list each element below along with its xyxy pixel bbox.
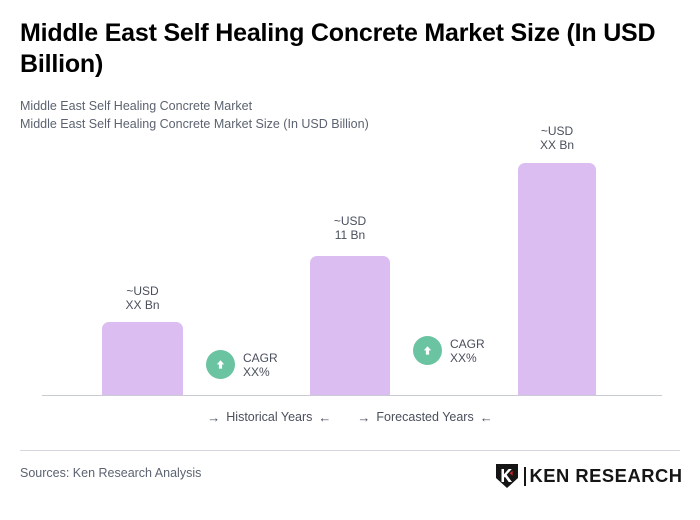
bar-3[interactable] [518,163,596,395]
chart-plot-area: ~USD XX Bn CAGR XX% ~USD 11 Bn [0,0,700,400]
cagr-annotation-1-text: CAGR XX% [243,351,278,379]
legend-item-historical-years: → Historical Years ← [207,410,331,424]
chart-card: Middle East Self Healing Concrete Market… [0,0,700,520]
cagr-annotation-2-value: XX% [450,351,485,365]
arrow-up-icon [413,336,442,365]
cagr-annotation-1: CAGR XX% [206,350,278,379]
brand-logo: KEN RESEARCH [495,463,681,489]
bar-value-label-2: ~USD 11 Bn [310,214,390,242]
footer-divider [20,450,680,451]
legend-item-historical-years-label: Historical Years [226,410,312,424]
cagr-annotation-2-label: CAGR [450,337,485,351]
bar-value-label-3-value: XX Bn [518,138,596,152]
bar-1[interactable] [102,322,183,395]
x-axis-baseline [42,395,662,396]
bar-value-label-3-currency: ~USD [518,124,596,138]
legend-item-forecasted-years-label: Forecasted Years [376,410,473,424]
bar-value-label-1-value: XX Bn [102,298,183,312]
bar-value-label-1: ~USD XX Bn [102,284,183,312]
sources-text: Sources: Ken Research Analysis [20,466,201,480]
arrow-right-icon: → [207,411,220,424]
arrow-left-icon: ← [318,411,331,424]
chart-legend: → Historical Years ← → Forecasted Years … [0,410,700,424]
cagr-annotation-1-label: CAGR [243,351,278,365]
ken-research-shield-icon [495,463,519,489]
legend-item-forecasted-years: → Forecasted Years ← [357,410,492,424]
bar-2[interactable] [310,256,390,395]
cagr-annotation-2: CAGR XX% [413,336,485,365]
arrow-left-icon: ← [480,411,493,424]
bar-value-label-2-value: 11 Bn [310,228,390,242]
bar-value-label-1-currency: ~USD [102,284,183,298]
cagr-annotation-2-text: CAGR XX% [450,337,485,365]
arrow-up-icon [206,350,235,379]
brand-divider [524,467,526,486]
arrow-right-icon: → [357,411,370,424]
bar-value-label-3: ~USD XX Bn [518,124,596,152]
bar-value-label-2-currency: ~USD [310,214,390,228]
cagr-annotation-1-value: XX% [243,365,278,379]
brand-name: KEN RESEARCH [529,466,682,487]
